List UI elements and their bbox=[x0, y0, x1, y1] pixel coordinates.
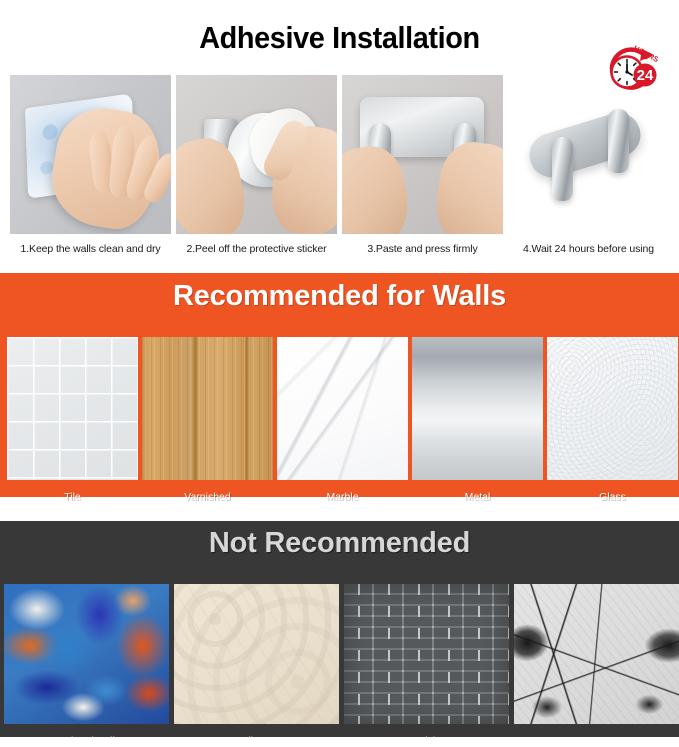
step-1-photo bbox=[10, 75, 171, 234]
step-3-caption: 3.Paste and press firmly bbox=[342, 243, 503, 255]
material-label: Marble bbox=[277, 491, 408, 503]
step-2-photo bbox=[176, 75, 337, 234]
metal-swatch bbox=[412, 337, 543, 480]
texture-swatch bbox=[514, 584, 679, 724]
painted-wall-swatch bbox=[4, 584, 169, 724]
step-4-caption: 4.Wait 24 hours before using bbox=[508, 243, 669, 255]
step-2-caption: 2.Peel off the protective sticker bbox=[176, 243, 337, 255]
glass-swatch bbox=[547, 337, 678, 480]
material-label: Metal bbox=[412, 491, 543, 503]
material-label: Brick bbox=[344, 735, 509, 747]
material-label: Texture bbox=[514, 735, 679, 747]
step-3-photo bbox=[342, 75, 503, 234]
material-item-brick: Brick bbox=[344, 584, 509, 747]
material-item-wallpaper: Wallpaper bbox=[174, 584, 339, 747]
material-label: Wallpaper bbox=[174, 735, 339, 747]
recommended-for-walls-section: Recommended for Walls Tile Varnished Mar… bbox=[0, 273, 679, 497]
material-item-painted-wall: Painted wall bbox=[4, 584, 169, 747]
install-title: Adhesive Installation bbox=[24, 21, 655, 54]
installation-steps-row: 1.Keep the walls clean and dry 2.Peel of… bbox=[0, 75, 679, 255]
material-item-marble: Marble bbox=[277, 337, 408, 503]
step-1-caption: 1.Keep the walls clean and dry bbox=[10, 243, 171, 255]
material-item-tile: Tile bbox=[7, 337, 138, 503]
install-step-4: 4.Wait 24 hours before using bbox=[508, 75, 669, 255]
adhesive-installation-section: Adhesive Installation 24 bbox=[0, 21, 679, 249]
install-step-1: 1.Keep the walls clean and dry bbox=[10, 75, 171, 255]
install-step-3: 3.Paste and press firmly bbox=[342, 75, 503, 255]
material-item-glass: Glass bbox=[547, 337, 678, 503]
marble-swatch bbox=[277, 337, 408, 480]
not-recommended-section: Not Recommended Painted wall Wallpaper B… bbox=[0, 521, 679, 737]
not-recommended-title: Not Recommended bbox=[0, 521, 679, 560]
recommended-title: Recommended for Walls bbox=[0, 273, 679, 313]
material-label: Painted wall bbox=[4, 735, 169, 747]
varnished-wood-swatch bbox=[142, 337, 273, 480]
brick-swatch bbox=[344, 584, 509, 724]
material-item-varnished: Varnished bbox=[142, 337, 273, 503]
hook-peg bbox=[608, 109, 629, 173]
material-label: Glass bbox=[547, 491, 678, 503]
wallpaper-swatch bbox=[174, 584, 339, 724]
material-label: Varnished bbox=[142, 491, 273, 503]
material-item-metal: Metal bbox=[412, 337, 543, 503]
material-label: Tile bbox=[7, 491, 138, 503]
tile-swatch bbox=[7, 337, 138, 480]
not-recommended-materials-row: Painted wall Wallpaper Brick Texture bbox=[0, 584, 679, 747]
24-hours-clock-icon: 24 HOURS bbox=[600, 45, 658, 101]
hook-peg bbox=[552, 137, 573, 201]
material-item-texture: Texture bbox=[514, 584, 679, 747]
recommended-materials-row: Tile Varnished Marble Metal Glass bbox=[0, 337, 679, 503]
badge-number: 24 bbox=[637, 67, 654, 84]
install-step-2: 2.Peel off the protective sticker bbox=[176, 75, 337, 255]
